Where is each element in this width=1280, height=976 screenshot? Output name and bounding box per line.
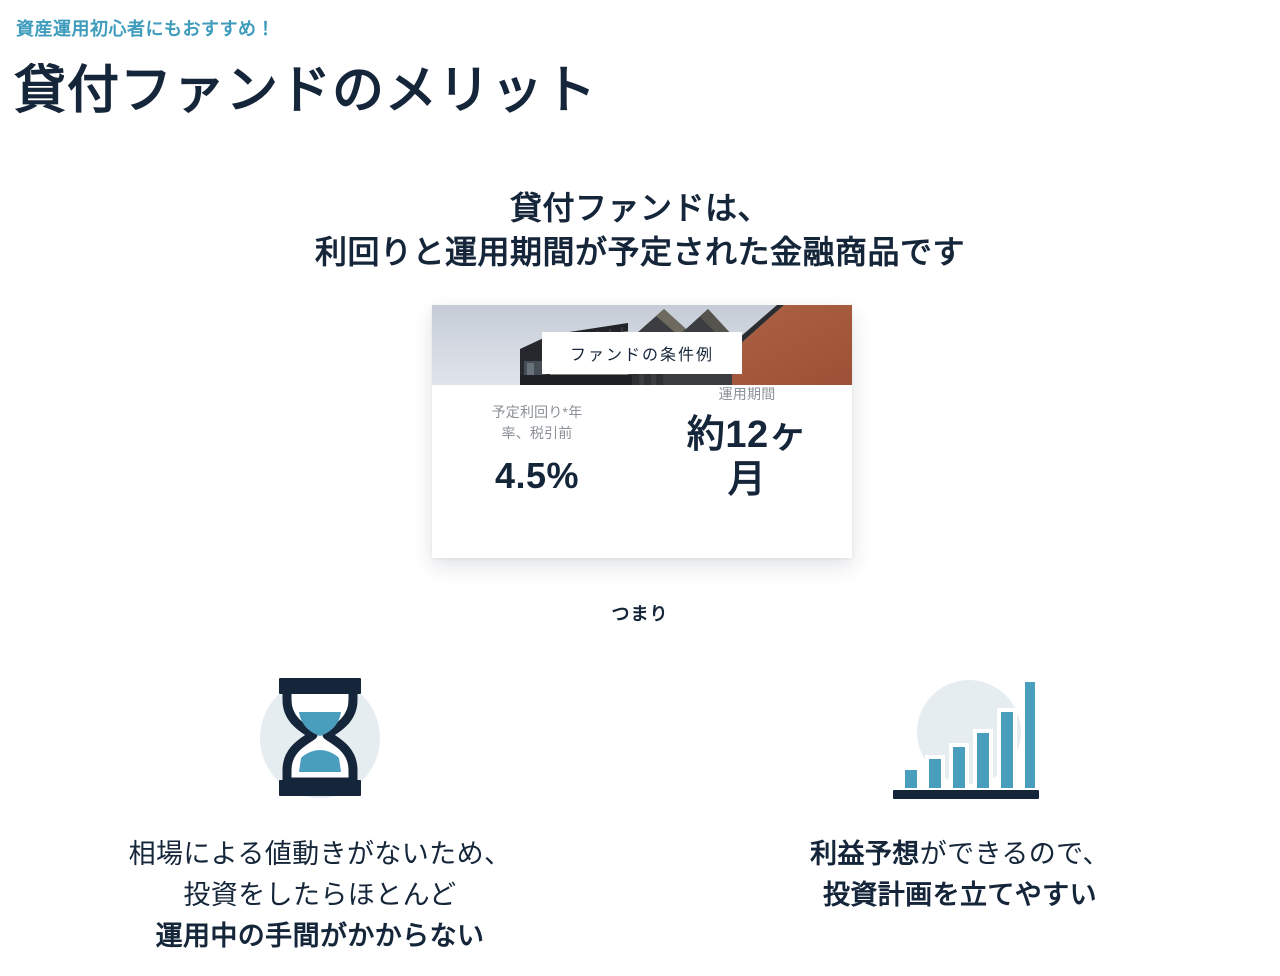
photo-label-badge: ファンドの条件例 bbox=[542, 332, 742, 374]
benefit-2-line-1-strong: 利益予想 bbox=[810, 839, 920, 869]
lead-line-2: 利回りと運用期間が予定された金融商品です bbox=[0, 230, 1280, 274]
page-root: 資産運用初心者にもおすすめ！ 貸付ファンドのメリット 貸付ファンドは、 利回りと… bbox=[0, 0, 1280, 976]
stat-expected-yield-label: 予定利回り*年率、税引前 bbox=[432, 402, 642, 444]
benefit-2-line-2: 投資計画を立てやすい bbox=[810, 875, 1110, 916]
bar-chart-icon-glyph bbox=[875, 660, 1045, 810]
fund-condition-card: ファンドの条件例 予定利回り*年率、税引前 4.5% 運用期間 約12ヶ月 bbox=[432, 305, 852, 558]
benefit-2-line-1: 利益予想ができるので、 bbox=[810, 834, 1110, 875]
benefit-item-no-price-fluctuation: 相場による値動きがないため、 投資をしたらほとんど 運用中の手間がかからない bbox=[0, 660, 640, 957]
lead-line-1: 貸付ファンドは、 bbox=[0, 186, 1280, 230]
card-body: 予定利回り*年率、税引前 4.5% 運用期間 約12ヶ月 bbox=[432, 385, 852, 558]
benefit-1-line-2: 投資をしたらほとんど bbox=[129, 875, 512, 916]
benefit-1-line-3: 運用中の手間がかからない bbox=[129, 916, 512, 957]
eyebrow-text: 資産運用初心者にもおすすめ！ bbox=[16, 15, 275, 41]
benefit-text-predictable-profit: 利益予想ができるので、 投資計画を立てやすい bbox=[810, 834, 1110, 916]
card-photo: ファンドの条件例 bbox=[432, 305, 852, 385]
benefit-1-line-1: 相場による値動きがないため、 bbox=[129, 834, 512, 875]
benefits-section: 相場による値動きがないため、 投資をしたらほとんど 運用中の手間がかからない bbox=[0, 660, 1280, 957]
stat-expected-yield-value: 4.5% bbox=[432, 455, 642, 497]
hourglass-icon-glyph bbox=[235, 660, 405, 810]
stat-operation-period-value: 約12ヶ月 bbox=[642, 413, 852, 503]
benefit-2-line-1-rest: ができるので、 bbox=[920, 839, 1110, 869]
benefit-item-predictable-profit: 利益予想ができるので、 投資計画を立てやすい bbox=[640, 660, 1280, 957]
hourglass-icon bbox=[235, 660, 405, 810]
stat-expected-yield: 予定利回り*年率、税引前 4.5% bbox=[432, 385, 642, 558]
stat-operation-period: 運用期間 約12ヶ月 bbox=[642, 385, 852, 558]
page-title: 貸付ファンドのメリット bbox=[14, 62, 597, 122]
stat-operation-period-label: 運用期間 bbox=[642, 384, 852, 405]
benefit-text-no-price-fluctuation: 相場による値動きがないため、 投資をしたらほとんど 運用中の手間がかからない bbox=[129, 834, 512, 957]
lead-copy: 貸付ファンドは、 利回りと運用期間が予定された金融商品です bbox=[0, 186, 1280, 274]
connector-text: つまり bbox=[0, 600, 1280, 626]
bar-chart-icon bbox=[875, 660, 1045, 810]
